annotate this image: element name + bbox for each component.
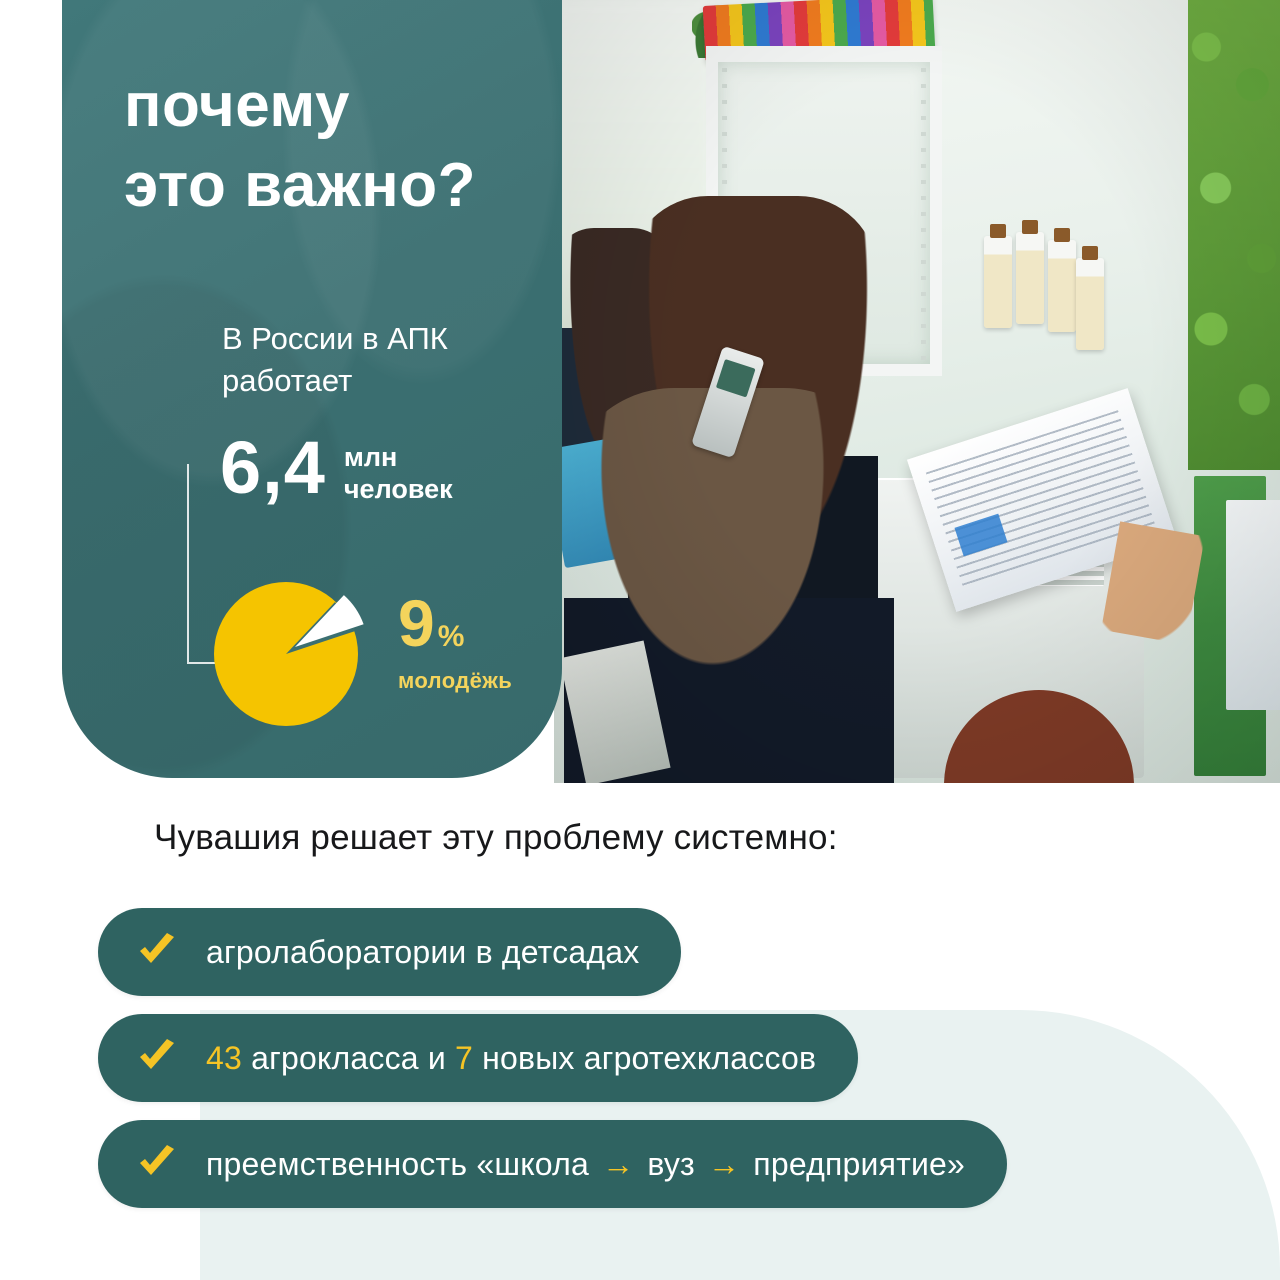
stat-unit: млн человек — [344, 432, 453, 506]
hero-photo — [554, 0, 1280, 783]
hero-subtitle: В России в АПК работает — [222, 318, 552, 402]
list-item[interactable]: агролаборатории в детсадах — [98, 908, 681, 996]
list-item-segment: предприятие» — [744, 1146, 965, 1182]
list-item-text: преемственность «школа → вуз → предприят… — [206, 1146, 965, 1183]
hero-title: почему это важно? — [124, 72, 544, 220]
pie-chart-svg — [210, 572, 378, 730]
list-item-segment: новых агротехклассов — [473, 1040, 816, 1076]
check-icon — [136, 1143, 178, 1185]
list-item-segment: 7 — [455, 1040, 473, 1076]
list-item-segment: 43 — [206, 1040, 242, 1076]
pie-percentage: 9% — [398, 590, 562, 656]
check-icon — [136, 931, 178, 973]
list-item-segment: агролаборатории в детсадах — [206, 934, 639, 970]
list-item-text: агролаборатории в детсадах — [206, 934, 639, 971]
solutions-list: агролаборатории в детсадах 43 агрокласса… — [98, 908, 1007, 1226]
section-heading: Чувашия решает эту проблему системно: — [154, 818, 838, 858]
pie-chart-label: 9% молодёжь — [398, 590, 562, 694]
pie-caption: молодёжь — [398, 668, 562, 694]
hero-title-line-2: это важно? — [124, 152, 544, 220]
list-item-segment: → — [704, 1146, 744, 1182]
pie-chart — [210, 572, 378, 730]
hero-card: почему это важно? В России в АПК работае… — [62, 0, 562, 778]
list-item[interactable]: преемственность «школа → вуз → предприят… — [98, 1120, 1007, 1208]
list-item-text: 43 агрокласса и 7 новых агротехклассов — [206, 1040, 816, 1077]
hero-statistic: 6,4 млн человек — [220, 432, 453, 506]
check-icon — [136, 1037, 178, 1079]
photo-vignette — [554, 0, 1280, 783]
infographic-poster: почему это важно? В России в АПК работае… — [0, 0, 1280, 1280]
list-item-segment: → — [598, 1146, 638, 1182]
list-item-segment: преемственность «школа — [206, 1146, 598, 1182]
list-item[interactable]: 43 агрокласса и 7 новых агротехклассов — [98, 1014, 858, 1102]
stat-value: 6,4 — [220, 432, 326, 505]
pie-percentage-number: 9 — [398, 586, 436, 660]
percent-sign: % — [438, 620, 466, 653]
list-item-segment: вуз — [638, 1146, 704, 1182]
hero-title-line-1: почему — [124, 71, 350, 140]
list-item-segment: агрокласса и — [242, 1040, 455, 1076]
